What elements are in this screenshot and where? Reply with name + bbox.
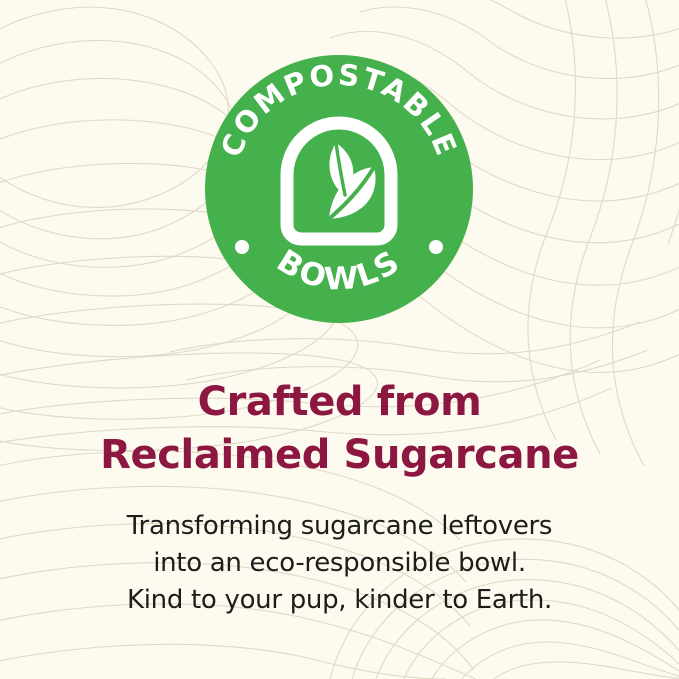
compostable-bowls-badge: COMPOSTABLE BOWLS — [205, 55, 473, 323]
headline-line-1: Crafted from — [0, 376, 679, 429]
body-line-2: into an eco-responsible bowl. — [0, 545, 679, 582]
badge-separator-dot-left — [235, 240, 249, 254]
promo-card: COMPOSTABLE BOWLS C — [0, 0, 679, 679]
body-line-1: Transforming sugarcane leftovers — [0, 508, 679, 545]
body-line-3: Kind to your pup, kinder to Earth. — [0, 582, 679, 619]
body-copy: Transforming sugarcane leftovers into an… — [0, 508, 679, 619]
marketing-copy-block: Crafted from Reclaimed Sugarcane Transfo… — [0, 376, 679, 619]
badge-separator-dot-right — [429, 240, 443, 254]
headline-line-2: Reclaimed Sugarcane — [0, 429, 679, 482]
